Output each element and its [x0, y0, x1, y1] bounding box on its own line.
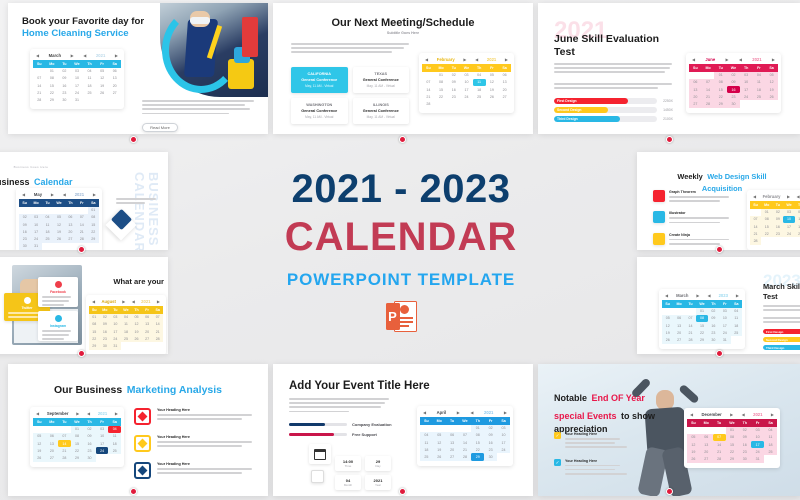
calendar-day[interactable]: 17 [30, 228, 41, 235]
slide1-indicator-dot[interactable] [130, 136, 137, 143]
calendar-day[interactable]: 04 [473, 72, 486, 79]
calendar-day[interactable]: 16 [447, 86, 460, 93]
calendar-day[interactable]: 05 [53, 214, 64, 221]
calendar-day[interactable]: 16 [727, 86, 740, 93]
calendar-day[interactable]: 18 [753, 86, 766, 93]
calendar-day[interactable]: 02 [484, 425, 497, 432]
calendar-day[interactable]: 23 [484, 446, 497, 453]
skill-item[interactable]: Graph Theorem [653, 190, 731, 204]
meeting-card[interactable]: CALIFORNIA General Conference May, 11 AM… [291, 67, 348, 93]
calendar-day[interactable]: 26 [662, 336, 673, 343]
calendar-day[interactable]: 04 [42, 214, 53, 221]
calendar-day[interactable]: 26 [486, 93, 499, 100]
calendar-day[interactable]: 29 [71, 454, 84, 461]
calendar-day[interactable]: 01 [471, 425, 484, 432]
calendar-day[interactable]: 18 [764, 441, 777, 448]
calendar-day[interactable]: 01 [761, 209, 772, 216]
slide3-calendar[interactable]: ◀ June ▶ ◀ 2021 ▶ SuMoTuWeThFrSa01020304… [686, 53, 781, 113]
calendar-day[interactable]: 19 [53, 228, 64, 235]
calendar-day[interactable]: 03 [30, 214, 41, 221]
slide5-card[interactable]: Instagram [38, 311, 78, 341]
calendar-day[interactable]: 21 [152, 328, 163, 335]
calendar-day[interactable]: 04 [83, 68, 96, 75]
calendar-grid[interactable]: SuMoTuWeThFrSa01020304050607080910111213… [750, 201, 800, 248]
calendar-day[interactable]: 29 [471, 453, 484, 460]
calendar-day[interactable]: 26 [131, 335, 142, 342]
calendar-day[interactable]: 08 [71, 433, 84, 440]
calendar-day[interactable]: 27 [689, 100, 702, 107]
calendar-day[interactable]: 11 [795, 216, 800, 223]
calendar-day[interactable]: 06 [700, 434, 713, 441]
calendar-day[interactable]: 23 [738, 448, 751, 455]
calendar-day[interactable]: 17 [71, 82, 84, 89]
calendar-day[interactable]: 14 [152, 321, 163, 328]
calendar-day[interactable]: 11 [420, 439, 433, 446]
slide1-calendar[interactable]: ◀ March ▶ ◀ 2021 ▶ SuMoTuWeThFrSa0102030… [30, 49, 124, 109]
cal-next-month-icon[interactable]: ▶ [696, 293, 699, 298]
calendar-day[interactable]: 03 [783, 209, 794, 216]
calendar-day[interactable]: 22 [435, 93, 448, 100]
calendar-day[interactable]: 07 [685, 315, 696, 322]
calendar-day[interactable]: 19 [765, 86, 778, 93]
calendar-day[interactable]: 13 [700, 441, 713, 448]
calendar-day[interactable]: 13 [46, 440, 59, 447]
calendar-day[interactable]: 18 [731, 322, 742, 329]
cal-prev-year-icon[interactable]: ◀ [797, 194, 800, 199]
calendar-day[interactable]: 24 [740, 93, 753, 100]
calendar-day[interactable]: 15 [696, 322, 707, 329]
calendar-day[interactable]: 03 [497, 425, 510, 432]
calendar-day[interactable]: 14 [750, 223, 761, 230]
slide5-calendar[interactable]: ◀ August ▶ ◀ 2021 ▶ SuMoTuWeThFrSa010203… [86, 295, 166, 354]
cal-prev-month-icon[interactable]: ◀ [36, 53, 39, 58]
cal-next-month-icon[interactable]: ▶ [76, 411, 79, 416]
cal-next-year-icon[interactable]: ▶ [93, 192, 96, 197]
calendar-day[interactable]: 17 [96, 440, 109, 447]
slide-marketing-analysis[interactable]: Our Business Marketing Analysis ◀ Septem… [8, 364, 268, 496]
event-item[interactable]: ✓ Your Heading Here [554, 459, 634, 478]
slide6-indicator-dot[interactable] [716, 246, 723, 253]
calendar-day[interactable]: 03 [719, 308, 730, 315]
calendar-day[interactable]: 07 [750, 216, 761, 223]
calendar-day[interactable]: 25 [753, 93, 766, 100]
calendar-day[interactable]: 07 [702, 79, 715, 86]
calendar-day[interactable]: 25 [731, 329, 742, 336]
calendar-day[interactable]: 30 [708, 336, 719, 343]
calendar-day[interactable]: 10 [740, 79, 753, 86]
calendar-day[interactable]: 01 [696, 308, 707, 315]
slide5-indicator-dot[interactable] [78, 350, 85, 357]
calendar-day[interactable]: 02 [83, 426, 96, 433]
calendar-day[interactable]: 15 [71, 440, 84, 447]
cal-prev-month-icon[interactable]: ◀ [425, 57, 428, 62]
calendar-day[interactable]: 19 [96, 82, 109, 89]
calendar-day[interactable]: 27 [673, 336, 684, 343]
calendar-grid[interactable]: SuMoTuWeThFrSa01020304050607080910111213… [33, 60, 121, 107]
slide3-indicator-dot[interactable] [666, 136, 673, 143]
calendar-day[interactable]: 09 [19, 221, 30, 228]
calendar-day[interactable]: 09 [100, 321, 111, 328]
calendar-day[interactable]: 21 [702, 93, 715, 100]
calendar-day[interactable]: 03 [110, 314, 121, 321]
calendar-day[interactable]: 06 [46, 433, 59, 440]
calendar-day[interactable]: 24 [30, 235, 41, 242]
calendar-day[interactable]: 02 [738, 427, 751, 434]
calendar-day[interactable]: 16 [19, 228, 30, 235]
calendar-day[interactable]: 22 [726, 448, 739, 455]
calendar-day[interactable]: 09 [772, 216, 783, 223]
calendar-day[interactable]: 10 [497, 432, 510, 439]
cal-next-month-icon[interactable]: ▶ [463, 57, 466, 62]
calendar-day[interactable]: 25 [473, 93, 486, 100]
calendar-day[interactable]: 30 [484, 453, 497, 460]
calendar-day[interactable]: 01 [88, 207, 99, 214]
calendar-day[interactable]: 21 [713, 448, 726, 455]
cal-next-month-icon[interactable]: ▶ [71, 53, 74, 58]
calendar-day[interactable]: 29 [696, 336, 707, 343]
calendar-day[interactable]: 08 [761, 216, 772, 223]
analysis-item[interactable]: Your Heading Here [134, 435, 254, 452]
calendar-day[interactable]: 28 [459, 453, 472, 460]
calendar-day[interactable]: 01 [89, 314, 100, 321]
calendar-day[interactable]: 16 [83, 440, 96, 447]
calendar-day[interactable]: 13 [142, 321, 153, 328]
cal-prev-month-icon[interactable]: ◀ [423, 410, 426, 415]
calendar-day[interactable]: 28 [152, 335, 163, 342]
cal-prev-year-icon[interactable]: ◀ [132, 299, 135, 304]
calendar-day[interactable]: 08 [471, 432, 484, 439]
calendar-day[interactable]: 22 [89, 335, 100, 342]
calendar-day[interactable]: 08 [726, 434, 739, 441]
calendar-day[interactable]: 18 [121, 328, 132, 335]
calendar-grid[interactable]: SuMoTuWeThFrSa01020304050607080910111213… [19, 199, 99, 250]
calendar-day[interactable]: 05 [131, 314, 142, 321]
slide8-calendar[interactable]: ◀ September ▶ ◀ 2021 ▶ SuMoTuWeThFrSa010… [30, 407, 124, 467]
slide9-indicator-dot[interactable] [399, 488, 406, 495]
calendar-day[interactable]: 28 [702, 100, 715, 107]
calendar-day[interactable]: 05 [662, 315, 673, 322]
cal-next-year-icon[interactable]: ▶ [736, 293, 739, 298]
calendar-day[interactable]: 12 [131, 321, 142, 328]
slide6-calendar[interactable]: ◀ February ▶ ◀ 2021 ▶ SuMoTuWeThFrSa0102… [747, 190, 800, 250]
cal-prev-year-icon[interactable]: ◀ [742, 412, 745, 417]
slide-add-your-event[interactable]: Add Your Event Title Here Company Evalua… [273, 364, 533, 496]
calendar-day[interactable]: 05 [433, 432, 446, 439]
calendar-day[interactable]: 06 [673, 315, 684, 322]
calendar-day[interactable]: 17 [783, 223, 794, 230]
calendar-day[interactable]: 22 [696, 329, 707, 336]
calendar-day[interactable]: 26 [96, 89, 109, 96]
calendar-day[interactable]: 18 [83, 82, 96, 89]
calendar-day[interactable]: 24 [783, 230, 794, 237]
calendar-day[interactable]: 23 [83, 447, 96, 454]
calendar-day[interactable]: 20 [65, 228, 76, 235]
calendar-day[interactable]: 27 [108, 89, 121, 96]
calendar-day[interactable]: 19 [662, 329, 673, 336]
calendar-day[interactable]: 19 [33, 447, 46, 454]
calendar-day[interactable]: 13 [498, 79, 511, 86]
slide-next-meeting[interactable]: Our Next Meeting/Schedule Subtitle Goes … [273, 3, 533, 134]
calendar-day[interactable]: 12 [662, 322, 673, 329]
calendar-day[interactable]: 22 [46, 89, 59, 96]
calendar-grid[interactable]: SuMoTuWeThFrSa01020304050607080910111213… [687, 419, 777, 466]
calendar-day[interactable]: 16 [738, 441, 751, 448]
calendar-day[interactable]: 27 [700, 455, 713, 462]
calendar-day[interactable]: 17 [740, 86, 753, 93]
calendar-day[interactable]: 25 [83, 89, 96, 96]
calendar-day[interactable]: 17 [497, 439, 510, 446]
calendar-grid[interactable]: SuMoTuWeThFrSa01020304050607080910111213… [689, 64, 778, 111]
calendar-day[interactable]: 26 [53, 235, 64, 242]
cal-prev-month-icon[interactable]: ◀ [690, 412, 693, 417]
calendar-day[interactable]: 03 [740, 72, 753, 79]
slide4-indicator-dot[interactable] [78, 246, 85, 253]
calendar-day[interactable]: 29 [726, 455, 739, 462]
calendar-day[interactable]: 09 [708, 315, 719, 322]
calendar-day[interactable]: 31 [719, 336, 730, 343]
slide2-calendar[interactable]: ◀ February ▶ ◀ 2021 ▶ SuMoTuWeThFrSa0102… [419, 53, 514, 113]
calendar-day[interactable]: 14 [33, 82, 46, 89]
cal-next-year-icon[interactable]: ▶ [772, 57, 775, 62]
calendar-day[interactable]: 25 [121, 335, 132, 342]
calendar-day[interactable]: 05 [486, 72, 499, 79]
calendar-day[interactable]: 19 [486, 86, 499, 93]
calendar-day[interactable]: 12 [96, 75, 109, 82]
cal-next-year-icon[interactable]: ▶ [505, 57, 508, 62]
calendar-day[interactable]: 20 [108, 82, 121, 89]
calendar-day[interactable]: 07 [713, 434, 726, 441]
calendar-day[interactable]: 06 [446, 432, 459, 439]
calendar-day[interactable]: 15 [89, 328, 100, 335]
calendar-day[interactable]: 02 [58, 68, 71, 75]
slide-business-calendar[interactable]: Business Goes Here Business Calendar BUS… [0, 152, 168, 250]
calendar-day[interactable]: 11 [473, 79, 486, 86]
event-item[interactable]: ✓ Your Heading Here [554, 432, 634, 451]
calendar-day[interactable]: 04 [121, 314, 132, 321]
calendar-day[interactable]: 14 [76, 221, 87, 228]
meeting-card[interactable]: TEXAS General Conference May, 11 AM - Vi… [353, 67, 410, 93]
calendar-day[interactable]: 10 [751, 434, 764, 441]
calendar-day[interactable]: 10 [783, 216, 794, 223]
calendar-day[interactable]: 11 [42, 221, 53, 228]
calendar-day[interactable]: 01 [726, 427, 739, 434]
calendar-day[interactable]: 14 [713, 441, 726, 448]
calendar-day[interactable]: 16 [708, 322, 719, 329]
cal-next-month-icon[interactable]: ▶ [730, 412, 733, 417]
calendar-day[interactable]: 25 [420, 453, 433, 460]
slide4-calendar[interactable]: ◀ May ▶ ◀ 2021 ▶ SuMoTuWeThFrSa010203040… [16, 188, 102, 250]
calendar-day[interactable]: 30 [83, 454, 96, 461]
calendar-day[interactable]: 14 [58, 440, 71, 447]
calendar-day[interactable]: 20 [142, 328, 153, 335]
calendar-day[interactable]: 11 [108, 433, 121, 440]
calendar-day[interactable]: 24 [110, 335, 121, 342]
calendar-day[interactable]: 01 [714, 72, 727, 79]
analysis-item[interactable]: Your Heading Here [134, 462, 254, 479]
calendar-day[interactable]: 09 [727, 79, 740, 86]
calendar-day[interactable]: 01 [435, 72, 448, 79]
calendar-day[interactable]: 26 [687, 455, 700, 462]
calendar-day[interactable]: 18 [420, 446, 433, 453]
cal-prev-month-icon[interactable]: ◀ [92, 299, 95, 304]
calendar-day[interactable]: 08 [46, 75, 59, 82]
calendar-day[interactable]: 06 [689, 79, 702, 86]
calendar-day[interactable]: 19 [687, 448, 700, 455]
calendar-day[interactable]: 05 [96, 68, 109, 75]
calendar-day[interactable]: 02 [447, 72, 460, 79]
calendar-day[interactable]: 28 [685, 336, 696, 343]
calendar-day[interactable]: 29 [88, 235, 99, 242]
calendar-day[interactable]: 05 [765, 72, 778, 79]
calendar-day[interactable]: 23 [100, 335, 111, 342]
calendar-day[interactable]: 21 [422, 93, 435, 100]
calendar-day[interactable]: 03 [460, 72, 473, 79]
calendar-day[interactable]: 12 [765, 79, 778, 86]
calendar-day[interactable]: 04 [764, 427, 777, 434]
calendar-day[interactable]: 31 [30, 243, 41, 250]
calendar-day[interactable]: 25 [42, 235, 53, 242]
calendar-day[interactable]: 29 [89, 342, 100, 349]
cal-next-month-icon[interactable]: ▶ [51, 192, 54, 197]
calendar-day[interactable]: 27 [498, 93, 511, 100]
calendar-day[interactable]: 04 [420, 432, 433, 439]
calendar-grid[interactable]: SuMoTuWeThFrSa01020304050607080910111213… [662, 300, 742, 347]
slide-business-schedules[interactable]: Twitter Facebook Instagram What are your… [0, 257, 168, 354]
calendar-day[interactable]: 02 [19, 214, 30, 221]
calendar-day[interactable]: 05 [33, 433, 46, 440]
calendar-day[interactable]: 15 [435, 86, 448, 93]
calendar-grid[interactable]: SuMoTuWeThFrSa01020304050607080910111213… [89, 306, 163, 353]
calendar-day[interactable]: 31 [71, 96, 84, 103]
calendar-day[interactable]: 10 [30, 221, 41, 228]
calendar-day[interactable]: 02 [772, 209, 783, 216]
cal-prev-month-icon[interactable]: ◀ [36, 411, 39, 416]
cal-next-year-icon[interactable]: ▶ [504, 410, 507, 415]
cal-next-year-icon[interactable]: ▶ [115, 53, 118, 58]
calendar-day[interactable]: 12 [687, 441, 700, 448]
calendar-day[interactable]: 08 [89, 321, 100, 328]
calendar-day[interactable]: 06 [108, 68, 121, 75]
meeting-card[interactable]: WASHINGTON General Conference May, 11 AM… [291, 98, 348, 124]
cal-next-month-icon[interactable]: ▶ [122, 299, 125, 304]
cal-prev-year-icon[interactable]: ◀ [708, 293, 711, 298]
calendar-day[interactable]: 24 [751, 448, 764, 455]
calendar-day[interactable]: 30 [727, 100, 740, 107]
cal-next-month-icon[interactable]: ▶ [725, 57, 728, 62]
slide10-calendar[interactable]: ◀ December ▶ ◀ 2021 ▶ SuMoTuWeThFrSa0102… [684, 408, 780, 468]
calendar-day[interactable]: 11 [83, 75, 96, 82]
calendar-day[interactable]: 12 [486, 79, 499, 86]
calendar-day[interactable]: 20 [446, 446, 459, 453]
calendar-day[interactable]: 28 [750, 237, 761, 244]
calendar-day[interactable]: 10 [71, 75, 84, 82]
calendar-day[interactable]: 23 [447, 93, 460, 100]
calendar-grid[interactable]: SuMoTuWeThFrSa01020304050607080910111213… [420, 417, 510, 464]
slide7-indicator-dot[interactable] [716, 350, 723, 357]
calendar-day[interactable]: 11 [731, 315, 742, 322]
calendar-day[interactable]: 06 [142, 314, 153, 321]
calendar-day[interactable]: 24 [497, 446, 510, 453]
calendar-day[interactable]: 01 [46, 68, 59, 75]
cal-next-year-icon[interactable]: ▶ [157, 299, 160, 304]
calendar-day[interactable]: 22 [71, 447, 84, 454]
calendar-day[interactable]: 09 [83, 433, 96, 440]
calendar-day[interactable]: 15 [726, 441, 739, 448]
calendar-day[interactable]: 03 [96, 426, 109, 433]
calendar-day[interactable]: 07 [422, 79, 435, 86]
calendar-day[interactable]: 25 [108, 447, 121, 454]
calendar-day[interactable]: 30 [19, 243, 30, 250]
calendar-day[interactable]: 20 [498, 86, 511, 93]
calendar-day[interactable]: 22 [714, 93, 727, 100]
calendar-day[interactable]: 12 [433, 439, 446, 446]
calendar-day[interactable]: 22 [88, 228, 99, 235]
calendar-day[interactable]: 10 [96, 433, 109, 440]
calendar-day[interactable]: 03 [71, 68, 84, 75]
calendar-grid[interactable]: SuMoTuWeThFrSa01020304050607080910111213… [422, 64, 511, 111]
calendar-day[interactable]: 30 [100, 342, 111, 349]
calendar-day[interactable]: 24 [96, 447, 109, 454]
calendar-day[interactable]: 30 [58, 96, 71, 103]
cal-next-year-icon[interactable]: ▶ [771, 412, 774, 417]
calendar-day[interactable]: 17 [460, 86, 473, 93]
calendar-day[interactable]: 11 [753, 79, 766, 86]
calendar-day[interactable]: 14 [459, 439, 472, 446]
calendar-day[interactable]: 13 [65, 221, 76, 228]
qr-code-icon[interactable] [311, 470, 324, 483]
calendar-day[interactable]: 23 [19, 235, 30, 242]
calendar-day[interactable]: 28 [58, 454, 71, 461]
slide8-indicator-dot[interactable] [130, 488, 137, 495]
calendar-day[interactable]: 27 [46, 454, 59, 461]
calendar-day[interactable]: 22 [471, 446, 484, 453]
calendar-day[interactable]: 04 [795, 209, 800, 216]
analysis-item[interactable]: Your Heading Here [134, 408, 254, 425]
slide-june-skill-evaluation[interactable]: 2021 June Skill Evaluation Test First De… [538, 3, 800, 134]
cal-next-month-icon[interactable]: ▶ [787, 194, 790, 199]
calendar-day[interactable]: 29 [714, 100, 727, 107]
calendar-grid[interactable]: SuMoTuWeThFrSa01020304050607080910111213… [33, 418, 121, 465]
calendar-day[interactable]: 02 [100, 314, 111, 321]
calendar-day[interactable]: 28 [33, 96, 46, 103]
calendar-day[interactable]: 22 [761, 230, 772, 237]
calendar-day[interactable]: 29 [46, 96, 59, 103]
cal-prev-year-icon[interactable]: ◀ [475, 57, 478, 62]
calendar-day[interactable]: 07 [459, 432, 472, 439]
calendar-day[interactable]: 26 [765, 93, 778, 100]
cal-prev-year-icon[interactable]: ◀ [470, 410, 473, 415]
calendar-day[interactable]: 14 [702, 86, 715, 93]
calendar-day[interactable]: 08 [435, 79, 448, 86]
calendar-day[interactable]: 23 [727, 93, 740, 100]
calendar-day[interactable]: 18 [795, 223, 800, 230]
skill-item[interactable]: Illustrator [653, 211, 731, 225]
calendar-day[interactable]: 02 [708, 308, 719, 315]
calendar-day[interactable]: 21 [459, 446, 472, 453]
slide10-indicator-dot[interactable] [666, 488, 673, 495]
calendar-day[interactable]: 20 [673, 329, 684, 336]
calendar-day[interactable]: 28 [76, 235, 87, 242]
calendar-day[interactable]: 23 [708, 329, 719, 336]
calendar-day[interactable]: 24 [719, 329, 730, 336]
calendar-day[interactable]: 15 [471, 439, 484, 446]
slide9-calendar[interactable]: ◀ April ▶ ◀ 2021 ▶ SuMoTuWeThFrSa0102030… [417, 406, 513, 466]
calendar-day[interactable]: 10 [719, 315, 730, 322]
calendar-day[interactable]: 14 [422, 86, 435, 93]
calendar-day[interactable]: 31 [110, 342, 121, 349]
calendar-day[interactable]: 20 [46, 447, 59, 454]
calendar-day[interactable]: 20 [689, 93, 702, 100]
